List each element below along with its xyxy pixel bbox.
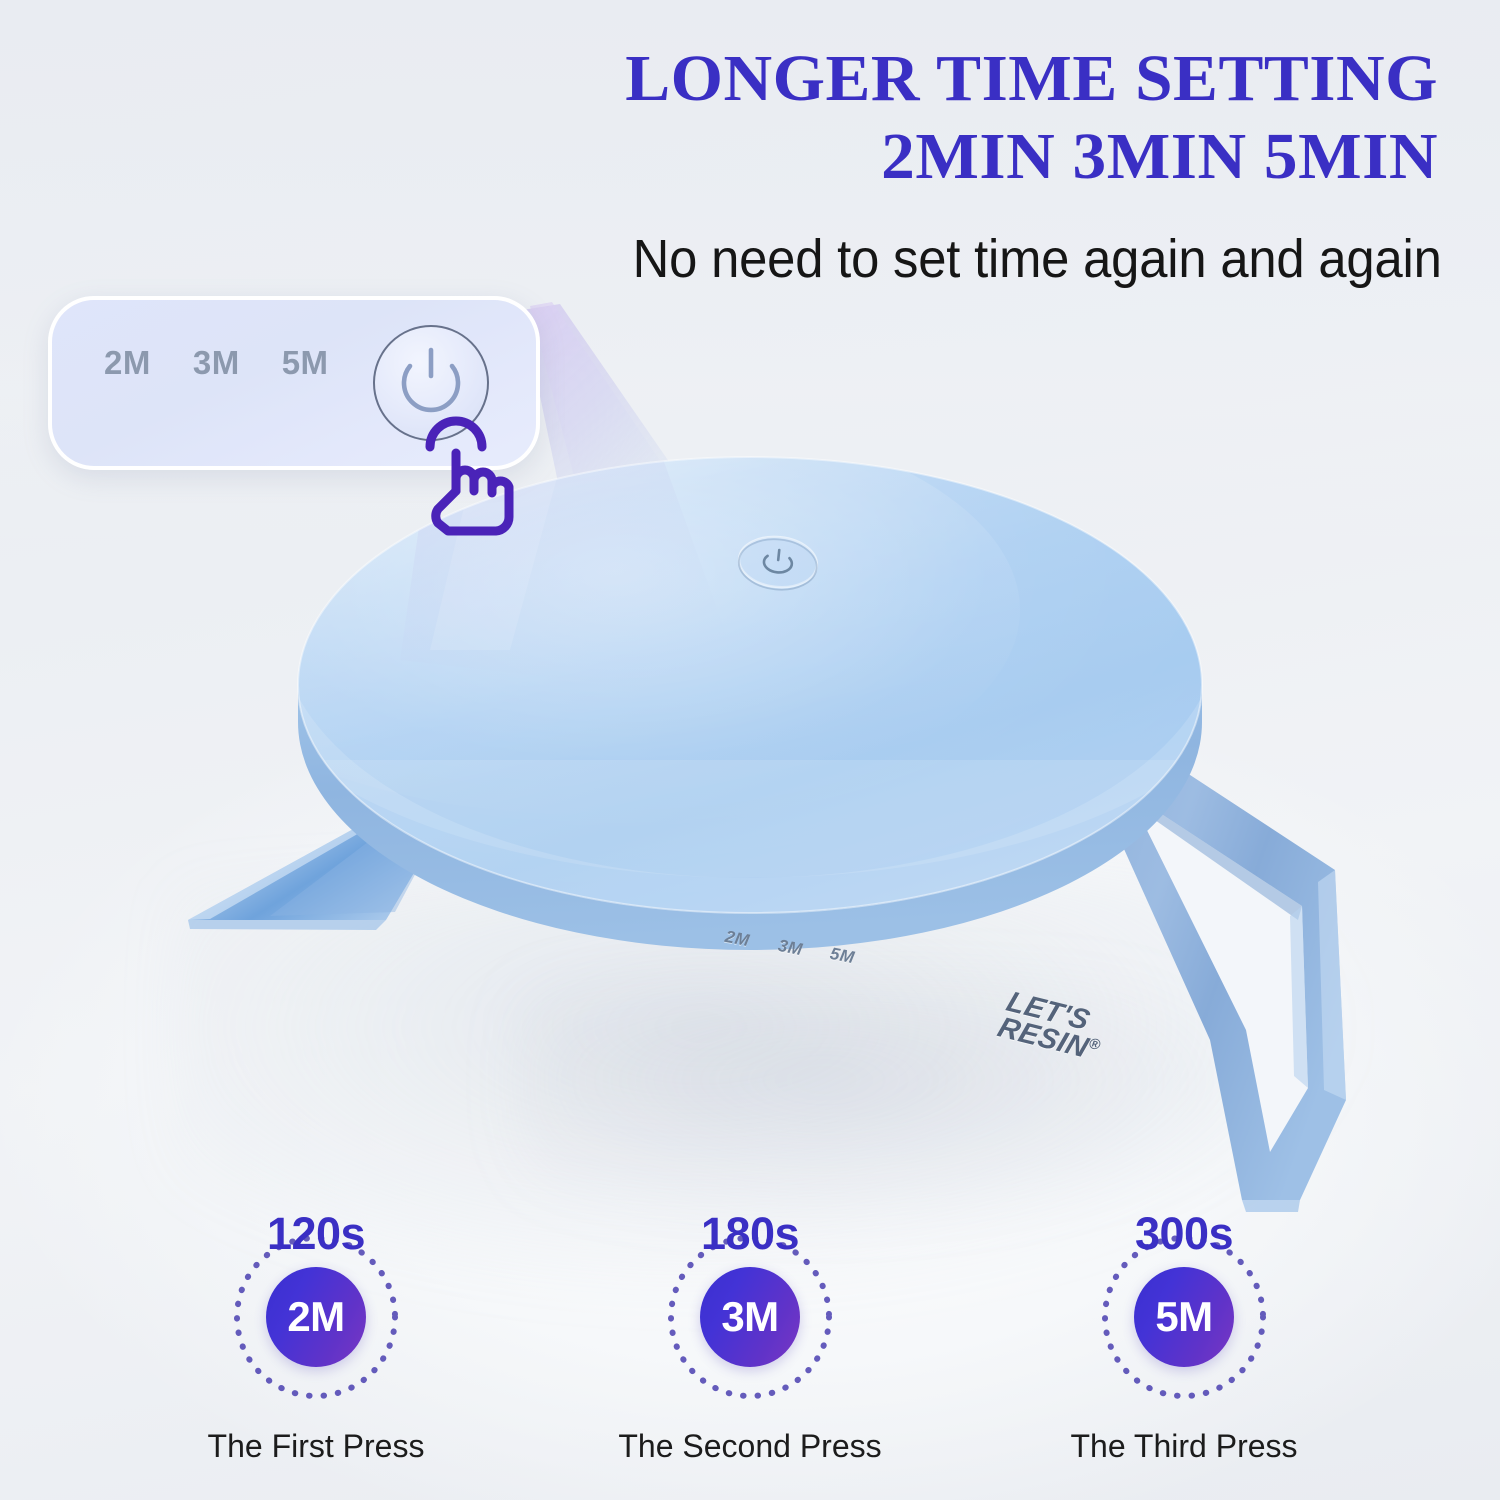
badge-mode-circle: 5M	[1134, 1267, 1234, 1367]
callout-tick-group: 2M 3M 5M	[104, 344, 329, 382]
subtitle-text: No need to set time again and again	[633, 228, 1442, 290]
badge-caption: The Third Press	[1050, 1428, 1318, 1465]
badge-item: 180s 3M The Second Press	[616, 1228, 884, 1465]
press-sequence-legend: 120s 2M The First Press 180s 3M	[0, 1228, 1500, 1465]
infographic-canvas: LONGER TIME SETTING 2MIN 3MIN 5MIN No ne…	[0, 0, 1500, 1500]
badge-mode-circle: 2M	[266, 1267, 366, 1367]
badge-item: 300s 5M The Third Press	[1050, 1228, 1318, 1465]
callout-tick-2m: 2M	[104, 344, 151, 382]
callout-tick-5m: 5M	[282, 344, 329, 382]
badge-seconds-label: 300s	[1050, 1208, 1318, 1260]
headline-line-1: LONGER TIME SETTING	[408, 44, 1438, 114]
badge-mode-label: 3M	[721, 1296, 778, 1338]
badge-mode-label: 5M	[1155, 1296, 1212, 1338]
badge-mode-circle: 3M	[700, 1267, 800, 1367]
badge-seconds-label: 120s	[182, 1208, 450, 1260]
product-image: 2M 3M 5M LET'S RESIN®	[150, 400, 1350, 1230]
badge-item: 120s 2M The First Press	[182, 1228, 450, 1465]
headline-block: LONGER TIME SETTING 2MIN 3MIN 5MIN	[428, 44, 1438, 192]
product-vector	[150, 400, 1350, 1230]
badge-mode-label: 2M	[287, 1296, 344, 1338]
callout-tick-3m: 3M	[193, 344, 240, 382]
badge-seconds-label: 180s	[616, 1208, 884, 1260]
headline-line-2: 2MIN 3MIN 5MIN	[408, 122, 1438, 192]
tap-hand-icon	[408, 417, 520, 535]
badge-caption: The Second Press	[616, 1428, 884, 1465]
badge-caption: The First Press	[182, 1428, 450, 1465]
